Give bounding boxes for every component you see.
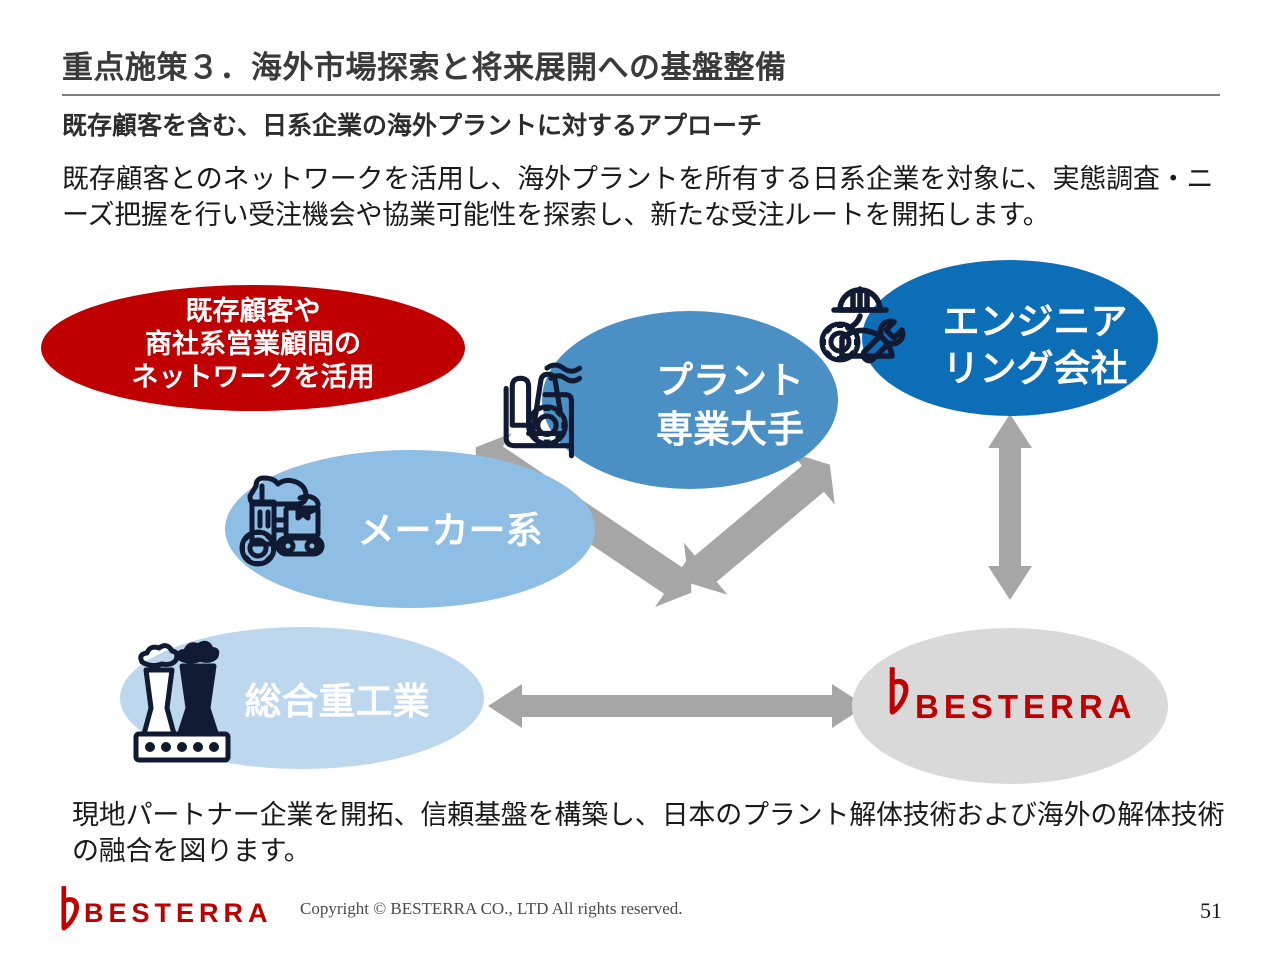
node-heavy-industry[interactable]: 総合重工業	[120, 627, 484, 769]
node-heavy-industry-label: 総合重工業	[245, 681, 430, 722]
page-title: 重点施策３．海外市場探索と将来展開への基盤整備	[62, 42, 787, 87]
node-plant-major-label-line-1: プラント	[656, 360, 804, 401]
node-besterra-label: BESTERRA	[915, 688, 1137, 725]
node-plant-major[interactable]: プラント 専業大手	[506, 311, 838, 489]
node-plant-major-label-line-2: 専業大手	[656, 409, 804, 450]
node-maker[interactable]: メーカー系	[225, 450, 595, 608]
arrow-engineering-besterra	[988, 414, 1032, 600]
node-network-label-line-2: 商社系営業顧問の	[145, 328, 361, 359]
copyright-text: Copyright © BESTERRA CO., LTD All rights…	[300, 899, 683, 919]
footer-logo-text: BESTERRA	[84, 898, 273, 928]
besterra-b-mark-icon	[61, 886, 79, 930]
lead-paragraph: 既存顧客とのネットワークを活用し、海外プラントを所有する日系企業を対象に、実態調…	[62, 162, 1232, 233]
footer-logo: BESTERRA	[56, 884, 288, 932]
node-engineering-company-label-line-1: エンジニア	[943, 301, 1128, 342]
relationship-diagram: 既存顧客や 商社系営業顧問の ネットワークを活用 プラント 専業大手 エンジニア…	[0, 258, 1280, 798]
node-network-label-line-3: ネットワークを活用	[132, 362, 375, 392]
node-maker-label: メーカー系	[358, 510, 543, 551]
closing-paragraph: 現地パートナー企業を開拓、信頼基盤を構築し、日本のプラント解体技術および海外の解…	[72, 798, 1232, 869]
node-network[interactable]: 既存顧客や 商社系営業顧問の ネットワークを活用	[41, 285, 465, 411]
arrow-heavy-besterra	[488, 684, 866, 728]
page-number: 51	[1200, 898, 1222, 924]
node-network-label-line-1: 既存顧客や	[186, 295, 321, 326]
node-engineering-company-label-line-2: リング会社	[943, 348, 1128, 389]
title-divider	[62, 94, 1220, 96]
node-besterra[interactable]: BESTERRA	[852, 628, 1168, 784]
slide: 重点施策３．海外市場探索と将来展開への基盤整備 既存顧客を含む、日系企業の海外プ…	[0, 0, 1280, 960]
node-engineering-company[interactable]: エンジニア リング会社	[820, 260, 1158, 416]
page-subtitle: 既存顧客を含む、日系企業の海外プラントに対するアプローチ	[62, 106, 762, 142]
